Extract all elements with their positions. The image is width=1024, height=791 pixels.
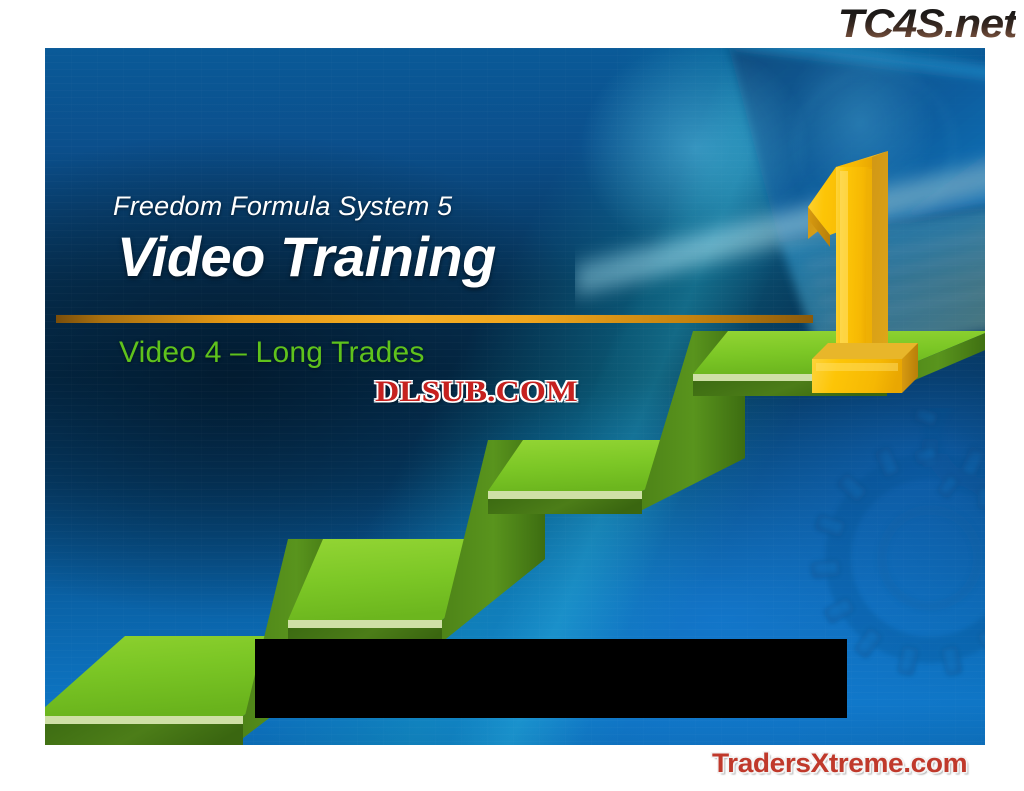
stair-step-3 (488, 440, 745, 514)
dlsub-watermark: DLSUB.COM (375, 375, 578, 409)
tradersxtreme-watermark: TradersXtreme.com (712, 748, 967, 779)
stair-step-2 (288, 539, 545, 652)
presentation-slide: Freedom Formula System 5 Video Training … (45, 48, 985, 745)
laptop-keyboard-art (575, 48, 985, 358)
stair-riser-2 (442, 440, 545, 642)
title-divider-rule (56, 315, 813, 323)
tc4s-watermark: TC4S.net (837, 2, 1016, 46)
stair-step-4 (693, 331, 985, 396)
slide-subtitle: Video 4 – Long Trades (119, 336, 425, 370)
slide-title: Video Training (117, 226, 496, 288)
slide-eyebrow: Freedom Formula System 5 (113, 191, 452, 222)
stair-riser-3 (642, 331, 745, 510)
number-one-3d-icon (800, 145, 925, 420)
black-overlay-bar (255, 639, 847, 718)
slide-page: { "page": { "width": 1024, "height": 791… (0, 0, 1024, 791)
